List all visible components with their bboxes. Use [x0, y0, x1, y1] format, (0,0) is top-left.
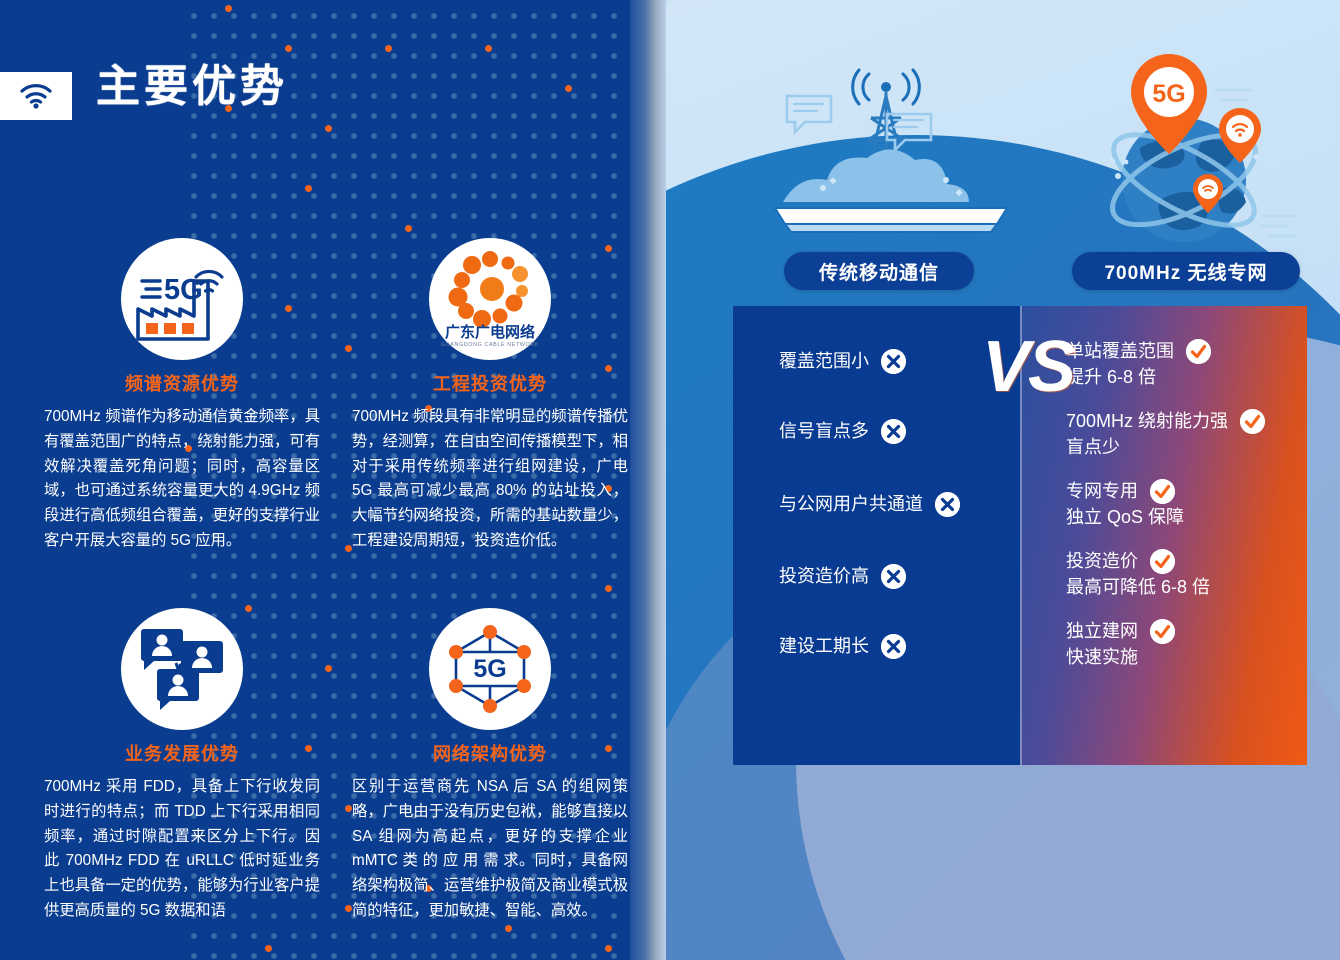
label-traditional-mobile: 传统移动通信: [784, 252, 974, 290]
accent-dot: [285, 45, 292, 52]
accent-dot: [265, 945, 272, 952]
row-label: 建设工期长: [779, 633, 869, 659]
table-row: 覆盖范围小: [779, 348, 906, 374]
vs-label: VS: [973, 326, 1083, 408]
check-icon: [1150, 479, 1175, 504]
accent-dot: [325, 125, 332, 132]
table-row: 单站覆盖范围 提升 6-8 倍: [1066, 338, 1211, 390]
card-title: 工程投资优势: [350, 370, 630, 396]
svg-text:5G: 5G: [164, 274, 203, 306]
accent-dot: [385, 45, 392, 52]
accent-dot: [405, 225, 412, 232]
accent-dot: [305, 185, 312, 192]
network-5g-icon: 5G: [429, 608, 551, 730]
card-body: 区别于运营商先 NSA 后 SA 的组网策略，广电由于没有历史包袱，能够直接以 …: [350, 775, 630, 924]
card-body: 700MHz 频谱作为移动通信黄金频率，具有覆盖范围广的特点，绕射能力强，可有效…: [42, 405, 322, 554]
card-title: 网络架构优势: [350, 740, 630, 766]
table-row: 专网专用 独立 QoS 保障: [1066, 478, 1184, 530]
row-subtext: 快速实施: [1066, 644, 1175, 670]
accent-dot: [505, 925, 512, 932]
row-subtext: 最高可降低 6-8 倍: [1066, 574, 1210, 600]
card-spectrum-advantage: 5G 频谱资源优势 700MHz 频谱作为移动通信黄金频率，具有覆盖范围广的特点…: [42, 238, 322, 554]
factory-5g-icon: 5G: [121, 238, 243, 360]
wifi-badge: [0, 72, 72, 120]
card-title: 业务发展优势: [42, 740, 322, 766]
left-panel: 主要优势 5G: [0, 0, 632, 960]
table-row: 信号盲点多: [779, 418, 906, 444]
row-label: 投资造价高: [779, 563, 869, 589]
wifi-icon: [19, 83, 53, 109]
accent-dot: [605, 585, 612, 592]
icon-label: 5G: [473, 655, 506, 683]
table-row: 与公网用户共通道: [779, 491, 960, 517]
card-business-development-advantage: 业务发展优势 700MHz 采用 FDD，具备上下行收发同时进行的特点；而 TD…: [42, 608, 322, 924]
check-icon: [1150, 549, 1175, 574]
row-label: 投资造价: [1066, 548, 1138, 574]
cross-icon: [881, 634, 906, 659]
globe-pin-label: 5G: [1152, 80, 1185, 108]
globe-5g-pin-icon: 5G: [1056, 48, 1306, 263]
row-subtext: 提升 6-8 倍: [1066, 364, 1211, 390]
row-label: 信号盲点多: [779, 418, 869, 444]
card-title: 频谱资源优势: [42, 370, 322, 396]
accent-dot: [325, 665, 332, 672]
cross-icon: [881, 419, 906, 444]
card-body: 700MHz 频段具有非常明显的频谱传播优势，经测算，在自由空间传播模型下，相对…: [350, 405, 630, 554]
page-fold-divider: [630, 0, 666, 960]
accent-dot: [225, 5, 232, 12]
row-label: 专网专用: [1066, 478, 1138, 504]
card-network-architecture-advantage: 5G 网络架构优势 区别于运营商先 NSA 后 SA 的组网策略，广电由于没有历…: [350, 608, 630, 924]
check-icon: [1240, 409, 1265, 434]
table-row: 投资造价高: [779, 563, 906, 589]
table-row: 独立建网 快速实施: [1066, 618, 1175, 670]
guangdong-cable-network-logo: 广东广电网络 GUANGDONG CABLE NETWORK: [429, 238, 551, 360]
row-label: 与公网用户共通道: [779, 491, 923, 517]
cross-icon: [881, 349, 906, 374]
check-icon: [1186, 339, 1211, 364]
label-700mhz-private-network: 700MHz 无线专网: [1072, 252, 1300, 290]
page-title: 主要优势: [96, 58, 288, 115]
users-group-icon: [121, 608, 243, 730]
row-label: 700MHz 绕射能力强: [1066, 408, 1228, 434]
card-body: 700MHz 采用 FDD，具备上下行收发同时进行的特点；而 TDD 上下行采用…: [42, 775, 322, 924]
logo-text-cn: 广东广电网络: [445, 323, 535, 341]
logo-text-en: GUANGDONG CABLE NETWORK: [441, 342, 539, 348]
right-panel: 5G 传统移动通信 700MHz 无线专网: [666, 0, 1340, 960]
table-row: 700MHz 绕射能力强 盲点少: [1066, 408, 1265, 460]
row-label: 覆盖范围小: [779, 348, 869, 374]
cross-icon: [935, 492, 960, 517]
accent-dot: [485, 45, 492, 52]
row-subtext: 盲点少: [1066, 434, 1265, 460]
table-row: 投资造价 最高可降低 6-8 倍: [1066, 548, 1210, 600]
infographic-page: 主要优势 5G: [0, 0, 1340, 960]
comparison-table: 覆盖范围小 信号盲点多: [733, 306, 1307, 765]
check-icon: [1150, 619, 1175, 644]
cell-tower-icon: [761, 60, 1021, 260]
cross-icon: [881, 564, 906, 589]
accent-dot: [565, 85, 572, 92]
row-subtext: 独立 QoS 保障: [1066, 504, 1184, 530]
table-row: 建设工期长: [779, 633, 906, 659]
row-label: 独立建网: [1066, 618, 1138, 644]
card-engineering-investment-advantage: 广东广电网络 GUANGDONG CABLE NETWORK 工程投资优势 70…: [350, 238, 630, 554]
accent-dot: [605, 945, 612, 952]
